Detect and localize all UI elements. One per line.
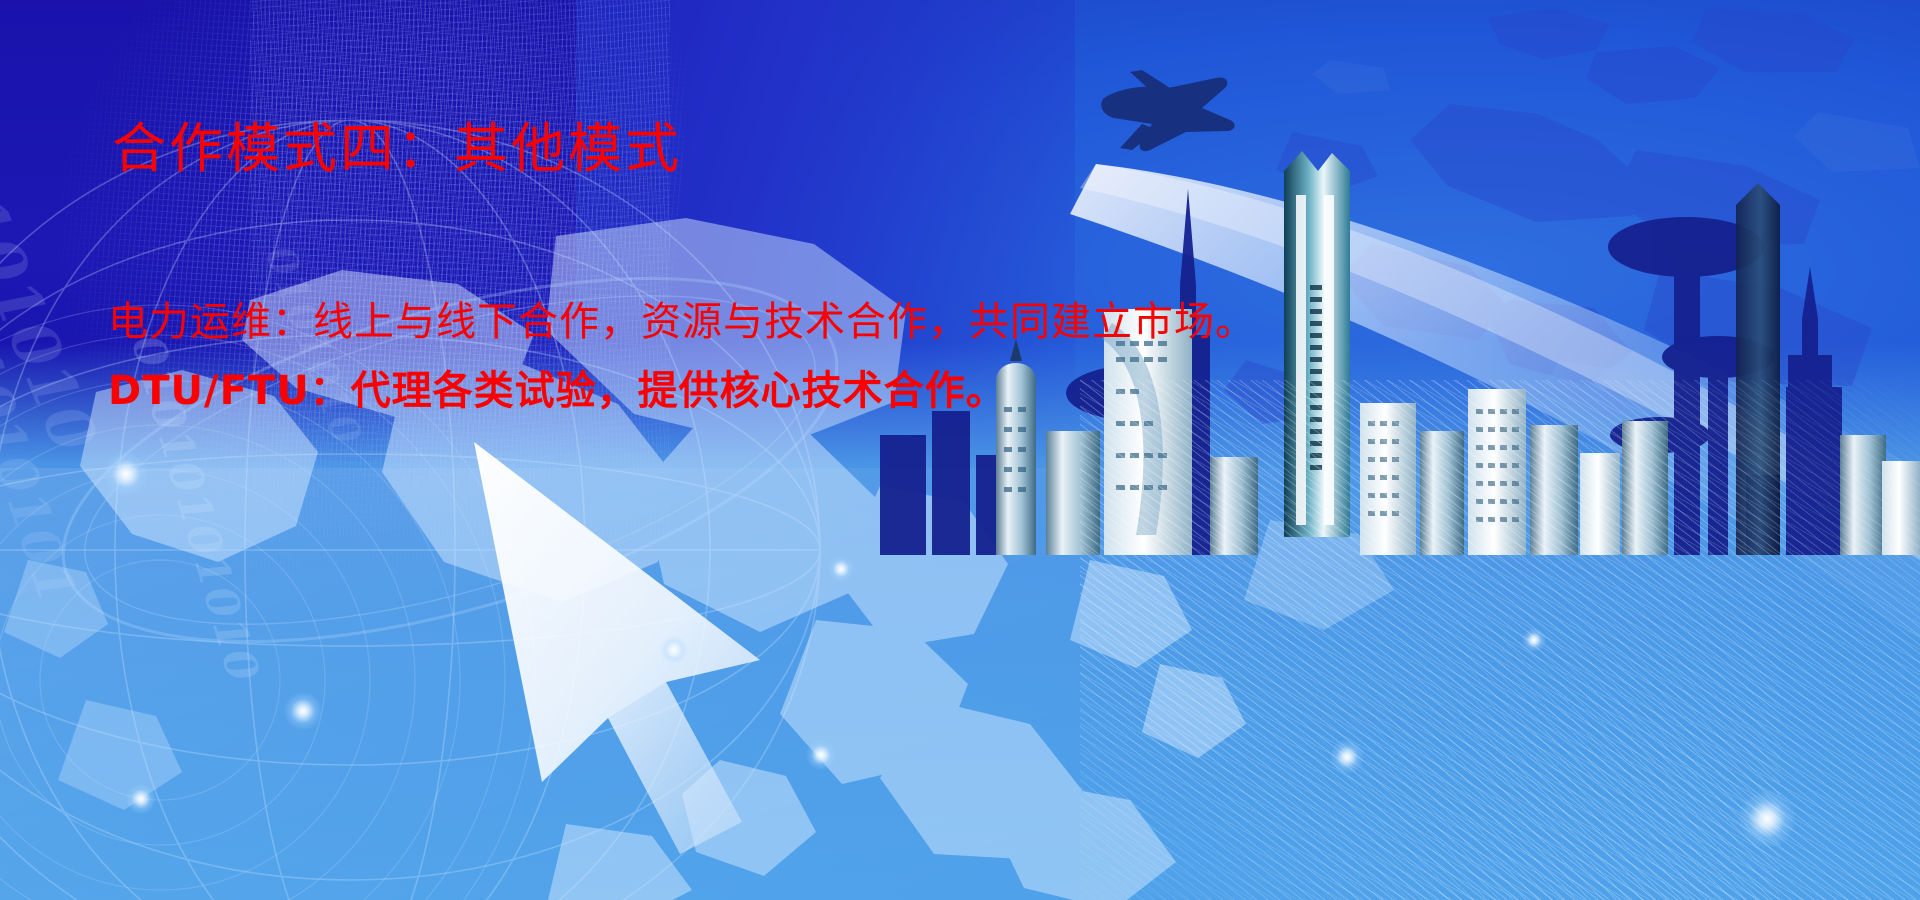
presentation-slide: 010101010 0101010101 01010101010 0101010 (0, 0, 1920, 900)
body-line-2: DTU/FTU：代理各类试验，提供核心技术合作。 (108, 357, 1528, 426)
body-line-1: 电力运维：线上与线下合作，资源与技术合作，共同建立市场。 (108, 288, 1528, 357)
slide-title: 合作模式四：其他模式 (112, 118, 682, 180)
line-fan-decor-secondary (1020, 440, 1780, 900)
slide-body: 电力运维：线上与线下合作，资源与技术合作，共同建立市场。 DTU/FTU：代理各… (108, 288, 1528, 426)
cursor-arrow-icon (430, 430, 860, 880)
